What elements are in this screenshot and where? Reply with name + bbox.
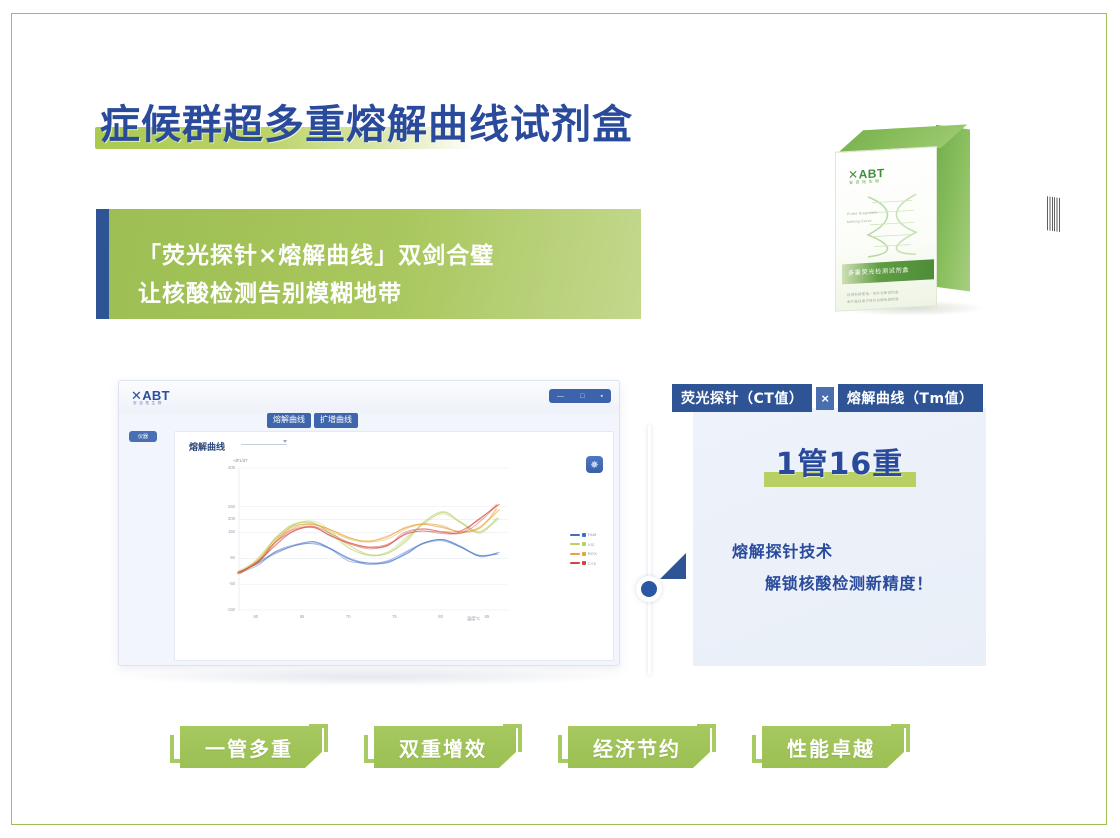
headline-block: 1管16重 bbox=[693, 450, 986, 480]
app-titlebar: ✕ABT 安百拓生物 — □ ▪ bbox=[119, 381, 619, 413]
feature-tag[interactable]: 经济节约 bbox=[558, 726, 716, 768]
legend-item[interactable]: VIC bbox=[570, 542, 597, 547]
formula-badges: 荧光探针（CT值） × 熔解曲线（Tm值） bbox=[672, 384, 983, 412]
feature-tag-label: 经济节约 bbox=[558, 726, 716, 768]
feature-tag-row: 一管多重 双重增效 经济节约 性能卓越 bbox=[170, 726, 910, 768]
close-icon[interactable]: ▪ bbox=[600, 393, 602, 400]
tab-bar[interactable]: 熔解曲线 扩增曲线 bbox=[267, 413, 358, 428]
legend-line-swatch bbox=[570, 543, 580, 545]
legend-item[interactable]: CY5 bbox=[570, 561, 597, 566]
chart-y-tick: 250 bbox=[228, 505, 235, 509]
legend-item[interactable]: FAM bbox=[570, 532, 597, 537]
chart-y-tick: 200 bbox=[228, 517, 235, 521]
chart-x-tick: 60 bbox=[253, 615, 258, 619]
feature-tag[interactable]: 一管多重 bbox=[170, 726, 328, 768]
feature-tag[interactable]: 双重增效 bbox=[364, 726, 522, 768]
page-title: 症候群超多重熔解曲线试剂盒 bbox=[100, 92, 633, 150]
chart-y-tick: 400 bbox=[228, 466, 235, 470]
pointer-triangle-middle bbox=[660, 553, 686, 579]
chart-y-tick: 150 bbox=[228, 530, 235, 534]
tab-melting-curve[interactable]: 熔解曲线 bbox=[267, 413, 311, 428]
chart-legend: FAMVICROXCY5 bbox=[570, 532, 597, 570]
vertical-slider[interactable] bbox=[645, 425, 653, 675]
legend-square-swatch bbox=[582, 561, 586, 565]
feature-tag-label: 一管多重 bbox=[170, 726, 328, 768]
badge-fluorescent-probe: 荧光探针（CT值） bbox=[672, 384, 812, 412]
chart-y-tick: 50 bbox=[230, 556, 235, 560]
app-window: ✕ABT 安百拓生物 — □ ▪ 熔解曲线 扩增曲线 仪器 熔解曲线 bbox=[118, 380, 620, 666]
chart-x-axis-title: 温度°C bbox=[467, 616, 480, 622]
legend-item[interactable]: ROX bbox=[570, 551, 597, 556]
product-box-front-panel: ✕ABT 安百拓生物 Probe Diagnostic Melting Curv… bbox=[835, 146, 937, 312]
page-title-text: 症候群超多重熔解曲线试剂盒 bbox=[100, 92, 633, 150]
legend-square-swatch bbox=[582, 542, 586, 546]
gear-icon bbox=[589, 459, 600, 470]
dna-helix-icon bbox=[858, 189, 932, 259]
maximize-icon[interactable]: □ bbox=[580, 393, 584, 400]
headline-text: 1管16重 bbox=[693, 450, 986, 480]
info-subline-2: 解锁核酸检测新精度！ bbox=[765, 570, 933, 594]
barcode-icon bbox=[1047, 196, 1061, 232]
legend-label: CY5 bbox=[588, 561, 596, 566]
chart-panel: 熔解曲线 -dF1/dT 40025020015050-50-150 60657… bbox=[174, 431, 614, 661]
info-subline-1: 熔解探针技术 bbox=[732, 538, 833, 562]
tab-amplification-curve[interactable]: 扩增曲线 bbox=[314, 413, 358, 428]
slider-track[interactable] bbox=[648, 425, 651, 675]
legend-label: VIC bbox=[588, 542, 595, 547]
tagline-banner-accent-bar bbox=[96, 209, 109, 319]
settings-gear-button[interactable] bbox=[586, 456, 603, 473]
chart-plot-area bbox=[185, 458, 515, 650]
window-controls[interactable]: — □ ▪ bbox=[549, 389, 611, 403]
badge-multiply-symbol: × bbox=[816, 387, 834, 410]
legend-label: FAM bbox=[588, 532, 597, 537]
chart-x-tick: 85 bbox=[485, 615, 490, 619]
badge-melting-curve: 熔解曲线（Tm值） bbox=[838, 384, 983, 412]
legend-line-swatch bbox=[570, 562, 580, 564]
legend-square-swatch bbox=[582, 552, 586, 556]
sidebar-instrument-button[interactable]: 仪器 bbox=[129, 431, 157, 442]
chart-x-tick: 70 bbox=[346, 615, 351, 619]
slider-knob[interactable] bbox=[636, 576, 662, 602]
chart-y-tick: -150 bbox=[227, 608, 235, 612]
legend-line-swatch bbox=[570, 534, 580, 536]
chart-x-tick: 75 bbox=[392, 615, 397, 619]
tagline-line-2: 让核酸检测告别模糊地带 bbox=[138, 274, 402, 308]
product-box: ✕ABT 安百拓生物 Probe Diagnostic Melting Curv… bbox=[835, 136, 970, 312]
legend-label: ROX bbox=[588, 551, 597, 556]
product-box-side-panel bbox=[936, 125, 970, 292]
melting-curve-chart: -dF1/dT 40025020015050-50-150 6065707580… bbox=[185, 458, 515, 650]
legend-line-swatch bbox=[570, 553, 580, 555]
chart-x-tick: 80 bbox=[438, 615, 443, 619]
product-desc-cn-2: 本产品仅用于体外诊断检测用途 bbox=[847, 296, 899, 304]
tagline-line-1: 「荧光探针×熔解曲线」双剑合璧 bbox=[138, 236, 494, 270]
legend-square-swatch bbox=[582, 533, 586, 537]
feature-tag[interactable]: 性能卓越 bbox=[752, 726, 910, 768]
app-logo-subtitle: 安百拓生物 bbox=[133, 401, 164, 406]
product-logo-subtitle: 安百拓生物 bbox=[849, 178, 882, 186]
app-window-shadow bbox=[120, 668, 620, 686]
chart-panel-title: 熔解曲线 bbox=[189, 440, 225, 453]
feature-tag-label: 性能卓越 bbox=[752, 726, 910, 768]
poster-root: 症候群超多重熔解曲线试剂盒 「荧光探针×熔解曲线」双剑合璧 让核酸检测告别模糊地… bbox=[0, 0, 1120, 838]
minimize-icon[interactable]: — bbox=[557, 393, 564, 400]
feature-tag-label: 双重增效 bbox=[364, 726, 522, 768]
chart-x-tick: 65 bbox=[300, 615, 305, 619]
chart-y-tick: -50 bbox=[229, 582, 235, 586]
chart-y-axis-title: -dF1/dT bbox=[233, 458, 248, 463]
chart-type-select[interactable] bbox=[241, 443, 287, 445]
